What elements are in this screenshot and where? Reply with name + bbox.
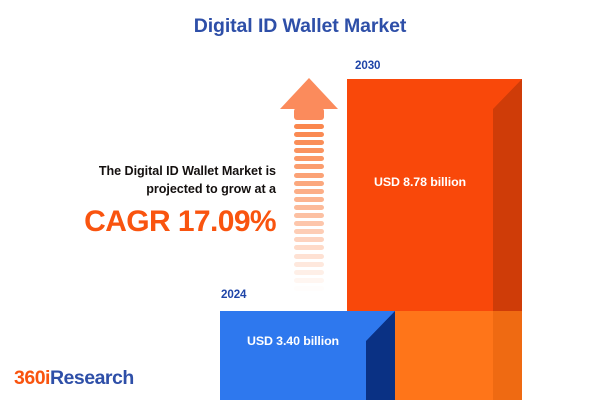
arrow-rung <box>294 245 324 250</box>
bar-2024-side-face <box>366 340 395 400</box>
bar-value-label-2024: USD 3.40 billion <box>220 334 366 348</box>
arrow-rung <box>294 213 324 218</box>
cagr-statement-line-1: The Digital ID Wallet Market is <box>99 164 276 178</box>
arrow-rung <box>294 205 324 210</box>
bar-2030-bevel-corner <box>493 79 522 109</box>
arrow-rung <box>294 237 324 242</box>
arrow-rung <box>294 262 324 267</box>
brand-logo-name: Research <box>50 367 134 389</box>
arrow-rung <box>294 221 324 226</box>
arrow-rung <box>294 189 324 194</box>
bar-year-label-2024: 2024 <box>221 288 246 301</box>
bar-2024-front-face <box>220 311 366 400</box>
cagr-annotation: The Digital ID Wallet Market is projecte… <box>36 163 276 238</box>
arrow-rung <box>294 148 324 153</box>
brand-logo-mark: 360i <box>14 367 50 389</box>
arrow-rung <box>294 156 324 161</box>
bar-2024: USD 3.40 billion <box>220 311 395 400</box>
cagr-value: CAGR 17.09% <box>36 205 276 238</box>
arrow-rung <box>294 254 324 259</box>
bar-2024-bevel-corner <box>366 311 395 341</box>
page-title: Digital ID Wallet Market <box>0 15 600 38</box>
bar-2030-side-face-lower <box>493 311 522 400</box>
cagr-statement: The Digital ID Wallet Market is projecte… <box>36 163 276 199</box>
arrow-rung <box>294 124 324 129</box>
arrow-rung <box>294 181 324 186</box>
arrow-rung <box>294 173 324 178</box>
arrow-gradient-rungs <box>294 124 324 293</box>
upward-growth-arrow-icon <box>280 78 338 293</box>
arrow-rung <box>294 197 324 202</box>
arrow-rung <box>294 278 324 283</box>
arrow-rung <box>294 270 324 275</box>
infographic-canvas: Digital ID Wallet Market The Digital ID … <box>0 0 600 400</box>
arrow-rung <box>294 140 324 145</box>
bar-value-label-2030: USD 8.78 billion <box>347 175 493 189</box>
arrow-head-icon <box>280 78 338 110</box>
brand-logo: 360iResearch <box>14 367 134 390</box>
arrow-rung <box>294 286 324 291</box>
arrow-rung <box>294 132 324 137</box>
arrow-neck <box>294 108 324 120</box>
bar-year-label-2030: 2030 <box>355 59 380 72</box>
arrow-rung <box>294 229 324 234</box>
arrow-rung <box>294 164 324 169</box>
cagr-statement-line-2: projected to grow at a <box>146 182 276 196</box>
